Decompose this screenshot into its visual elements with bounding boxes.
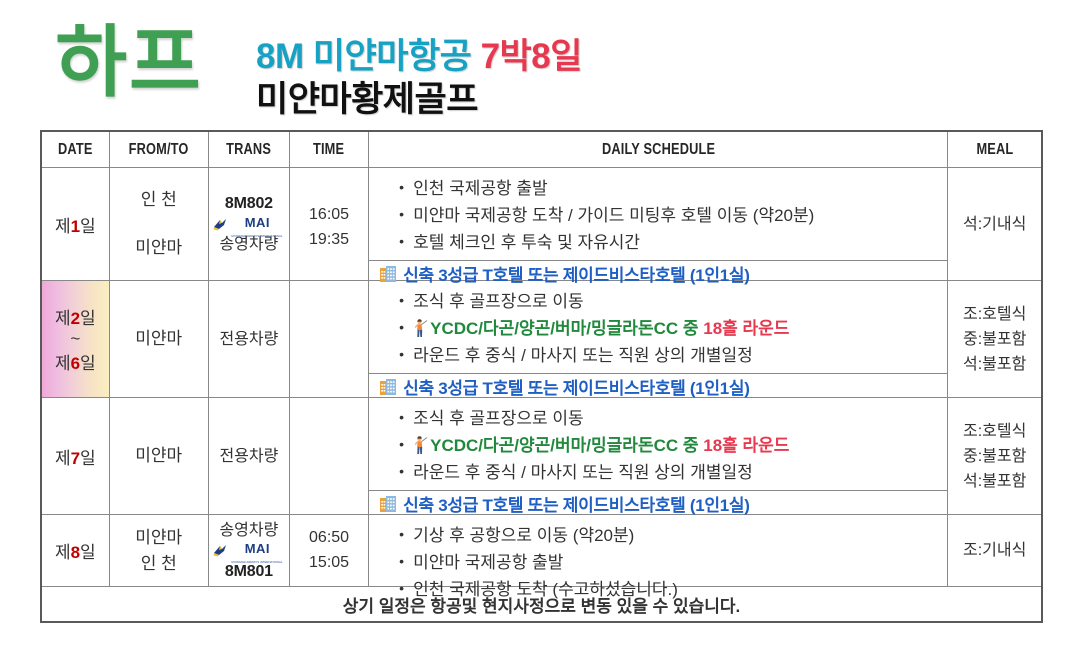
hotel-icon <box>379 378 397 396</box>
date-number: 1 <box>71 217 80 236</box>
column-header-meal: MEAL <box>957 131 1032 168</box>
column-header-fromto: FROM/TO <box>119 131 198 168</box>
meal-item: 중:불포함 <box>949 327 1040 352</box>
cell-time-day7 <box>289 398 368 515</box>
table-header-row: DATE FROM/TO TRANS TIME DAILY SCHEDULE M… <box>41 131 1042 168</box>
date-suffix: 일 <box>80 354 96 373</box>
schedule-bullet-list: 기상 후 공항으로 이동 (약20분) 미얀마 국제공항 출발 인천 국제공항 … <box>369 516 947 607</box>
cell-trans-day8: 송영차량 MAI MYANMAR AIRWAYS INTERNATIONAL 8… <box>208 515 289 587</box>
schedule-item: 조식 후 골프장으로 이동 <box>399 405 947 432</box>
cell-time-day2to6 <box>289 281 368 398</box>
cell-meal-day7: 조:호텔식 중:불포함 석:불포함 <box>948 398 1042 515</box>
table-row: 제7일 미얀마 전용차량 조식 후 골프장으로 이동 <box>41 398 1042 515</box>
page-title-line-2: 미얀마황제골프 <box>256 78 582 122</box>
date-prefix: 제 <box>55 309 71 328</box>
cell-fromto-day2to6: 미얀마 <box>109 281 208 398</box>
golf-round-label: 18홀 라운드 <box>703 319 789 338</box>
from-location: 인 천 <box>111 187 207 235</box>
column-header-time: TIME <box>297 131 360 168</box>
title-block: 8M 미얀마항공 7박8일 미얀마황제골프 <box>250 14 582 122</box>
meal-item: 석:기내식 <box>949 212 1040 237</box>
cell-date-day7: 제7일 <box>41 398 109 515</box>
cell-trans-day2to6: 전용차량 <box>208 281 289 398</box>
schedule-item: 미얀마 국제공항 도착 / 가이드 미팅후 호텔 이동 (약20분) <box>399 202 947 229</box>
title-duration: 7박8일 <box>481 37 582 76</box>
time-departure: 16:05 <box>291 202 367 227</box>
date-prefix: 제 <box>55 354 71 373</box>
mai-bird-mark <box>213 218 228 231</box>
meal-item: 조:호텔식 <box>949 419 1040 444</box>
cell-trans-day7: 전용차량 <box>208 398 289 515</box>
date-suffix: 일 <box>80 217 96 236</box>
date-range-end: 제6일 <box>43 349 108 374</box>
hotel-strip: 신축 3성급 T호텔 또는 제이드비스타호텔 (1인1실) <box>369 373 947 400</box>
mai-airlines-logo: MAI MYANMAR AIRWAYS INTERNATIONAL <box>210 216 288 232</box>
schedule-item: 호텔 체크인 후 투숙 및 자유시간 <box>399 229 947 256</box>
itinerary-table-wrap: DATE FROM/TO TRANS TIME DAILY SCHEDULE M… <box>40 130 1043 623</box>
date-suffix: 일 <box>80 543 96 562</box>
hotel-label: 신축 3성급 T호텔 또는 제이드비스타호텔 (1인1실) <box>403 491 750 516</box>
table-row: 제1일 인 천 미얀마 8M802 MAI MYANMAR AIRWAYS IN… <box>41 168 1042 281</box>
table-row: 제2일 ~ 제6일 미얀마 전용차량 조식 후 골프장으로 이동 <box>41 281 1042 398</box>
cell-schedule-day7: 조식 후 골프장으로 이동 YCDC/다곤/양곤/버마/밍글라돈CC 중 18 <box>369 398 948 515</box>
mai-wordmark: MAI MYANMAR AIRWAYS INTERNATIONAL <box>230 211 284 238</box>
cell-date-day8: 제8일 <box>41 515 109 587</box>
schedule-item: 라운드 후 중식 / 마사지 또는 직원 상의 개별일정 <box>399 342 947 369</box>
date-suffix: 일 <box>80 309 96 328</box>
hotel-icon <box>379 495 397 513</box>
schedule-item-golf: YCDC/다곤/양곤/버마/밍글라돈CC 중 18홀 라운드 <box>399 432 947 459</box>
meal-item: 조:호텔식 <box>949 302 1040 327</box>
to-location: 미얀마 <box>111 235 207 261</box>
from-location: 미얀마 <box>111 525 207 551</box>
hotel-label: 신축 3성급 T호텔 또는 제이드비스타호텔 (1인1실) <box>403 374 750 399</box>
cell-time-day8: 06:50 15:05 <box>289 515 368 587</box>
cell-schedule-day1: 인천 국제공항 출발 미얀마 국제공항 도착 / 가이드 미팅후 호텔 이동 (… <box>369 168 948 281</box>
date-prefix: 제 <box>55 449 71 468</box>
time-arrival: 15:05 <box>291 550 367 575</box>
cell-meal-day2to6: 조:호텔식 중:불포함 석:불포함 <box>948 281 1042 398</box>
column-header-daily-schedule: DAILY SCHEDULE <box>427 131 890 168</box>
golfer-icon <box>413 436 430 455</box>
meal-item: 석:불포함 <box>949 352 1040 377</box>
table-row: 제8일 미얀마 인 천 송영차량 MAI MYANMAR AIRWAYS INT… <box>41 515 1042 587</box>
page-title-line-1: 8M 미얀마항공 7박8일 <box>256 36 582 78</box>
date-suffix: 일 <box>80 449 96 468</box>
cell-trans-day1: 8M802 MAI MYANMAR AIRWAYS INTERNATIONAL … <box>208 168 289 281</box>
schedule-item: 라운드 후 중식 / 마사지 또는 직원 상의 개별일정 <box>399 459 947 486</box>
date-number: 6 <box>71 354 80 373</box>
schedule-bullet-list: 조식 후 골프장으로 이동 YCDC/다곤/양곤/버마/밍글라돈CC 중 18 <box>369 399 947 490</box>
schedule-item: 인천 국제공항 도착 (수고하셨습니다.) <box>399 576 947 603</box>
itinerary-table: DATE FROM/TO TRANS TIME DAILY SCHEDULE M… <box>40 130 1043 623</box>
brand-logo: 하프 <box>0 14 250 110</box>
date-number: 8 <box>71 543 80 562</box>
schedule-inner: 기상 후 공항으로 이동 (약20분) 미얀마 국제공항 출발 인천 국제공항 … <box>369 516 947 586</box>
date-prefix: 제 <box>55 543 71 562</box>
schedule-item-golf: YCDC/다곤/양곤/버마/밍글라돈CC 중 18홀 라운드 <box>399 315 947 342</box>
title-product-name: 8M 미얀마항공 <box>256 37 481 76</box>
date-range-start: 제2일 <box>43 304 108 329</box>
date-range-separator: ~ <box>43 329 108 349</box>
schedule-item: 기상 후 공항으로 이동 (약20분) <box>399 522 947 549</box>
schedule-item: 인천 국제공항 출발 <box>399 175 947 202</box>
cell-schedule-day2to6: 조식 후 골프장으로 이동 YCDC/다곤/양곤/버마/밍글라돈CC 중 18 <box>369 281 948 398</box>
cell-fromto-day8: 미얀마 인 천 <box>109 515 208 587</box>
schedule-inner: 조식 후 골프장으로 이동 YCDC/다곤/양곤/버마/밍글라돈CC 중 18 <box>369 399 947 514</box>
column-header-date: DATE <box>48 131 103 168</box>
cell-date-day1: 제1일 <box>41 168 109 281</box>
schedule-item: 조식 후 골프장으로 이동 <box>399 288 947 315</box>
column-header-trans: TRANS <box>216 131 281 168</box>
golf-courses-label: YCDC/다곤/양곤/버마/밍글라돈CC 중 <box>430 319 703 338</box>
date-prefix: 제 <box>55 217 71 236</box>
mai-bird-mark <box>213 544 228 557</box>
meal-item: 석:불포함 <box>949 469 1040 494</box>
golf-courses-label: YCDC/다곤/양곤/버마/밍글라돈CC 중 <box>430 436 703 455</box>
mai-airlines-logo: MAI MYANMAR AIRWAYS INTERNATIONAL <box>210 543 288 559</box>
schedule-bullet-list: 인천 국제공항 출발 미얀마 국제공항 도착 / 가이드 미팅후 호텔 이동 (… <box>369 169 947 260</box>
schedule-inner: 조식 후 골프장으로 이동 YCDC/다곤/양곤/버마/밍글라돈CC 중 18 <box>369 282 947 397</box>
golf-round-label: 18홀 라운드 <box>703 436 789 455</box>
schedule-inner: 인천 국제공항 출발 미얀마 국제공항 도착 / 가이드 미팅후 호텔 이동 (… <box>369 169 947 280</box>
cell-time-day1: 16:05 19:35 <box>289 168 368 281</box>
cell-fromto-day7: 미얀마 <box>109 398 208 515</box>
schedule-bullet-list: 조식 후 골프장으로 이동 YCDC/다곤/양곤/버마/밍글라돈CC 중 18 <box>369 282 947 373</box>
meal-item: 중:불포함 <box>949 444 1040 469</box>
cell-schedule-day8: 기상 후 공항으로 이동 (약20분) 미얀마 국제공항 출발 인천 국제공항 … <box>369 515 948 587</box>
to-location: 인 천 <box>111 551 207 577</box>
cell-fromto-day1: 인 천 미얀마 <box>109 168 208 281</box>
time-arrival: 19:35 <box>291 227 367 252</box>
schedule-item: 미얀마 국제공항 출발 <box>399 549 947 576</box>
cell-meal-day1: 석:기내식 <box>948 168 1042 281</box>
golfer-icon <box>413 319 430 338</box>
mai-wordmark: MAI MYANMAR AIRWAYS INTERNATIONAL <box>230 537 284 564</box>
hotel-icon <box>379 265 397 283</box>
date-number: 7 <box>71 449 80 468</box>
page-header: 하프 8M 미얀마항공 7박8일 미얀마황제골프 <box>0 0 1080 130</box>
date-number: 2 <box>71 309 80 328</box>
hotel-strip: 신축 3성급 T호텔 또는 제이드비스타호텔 (1인1실) <box>369 490 947 517</box>
time-departure: 06:50 <box>291 525 367 550</box>
cell-date-day2to6: 제2일 ~ 제6일 <box>41 281 109 398</box>
cell-meal-day8: 조:기내식 <box>948 515 1042 587</box>
meal-item: 조:기내식 <box>949 538 1040 563</box>
